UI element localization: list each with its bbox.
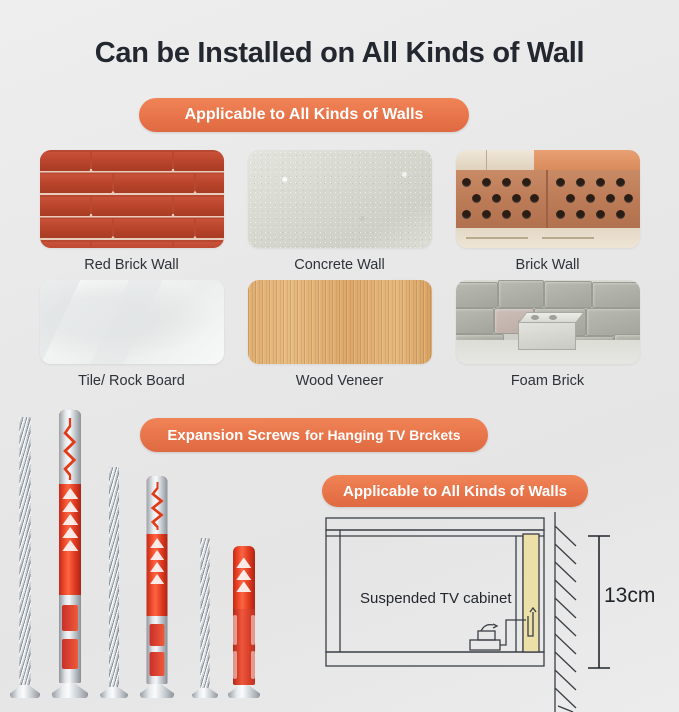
anchor-item-2: [140, 476, 174, 698]
wall-type-label: Wood Veneer: [248, 373, 432, 389]
tile-swatch: [40, 280, 224, 364]
red-brick-swatch: [40, 150, 224, 248]
brick-bottom-course: [456, 228, 640, 248]
wall-type-wood: Wood Veneer: [248, 280, 432, 389]
wall-type-label: Concrete Wall: [248, 257, 432, 273]
wall-type-brick: Brick Wall: [456, 150, 640, 273]
brick-hollow-body: [456, 170, 640, 228]
hatched-wall: [555, 512, 576, 712]
brick-block: [550, 170, 640, 228]
badge-applicable-top: Applicable to All Kinds of Walls: [139, 98, 469, 132]
wall-type-label: Foam Brick: [456, 373, 640, 389]
expansion-screws-illustration: [0, 405, 310, 712]
anchor-item-1: [52, 410, 88, 698]
brick-orange-face: [588, 150, 640, 170]
foam-front-block: [518, 320, 576, 350]
tv-cabinet-diagram: [318, 512, 679, 712]
wall-types-grid: Red Brick Wall Concrete Wall: [0, 150, 679, 396]
wall-type-label: Brick Wall: [456, 257, 640, 273]
infographic-page: Can be Installed on All Kinds of Wall Ap…: [0, 0, 679, 712]
wall-type-label: Red Brick Wall: [40, 257, 224, 273]
wood-veneer-swatch: [248, 280, 432, 364]
badge-expansion-screws-thin: for Hanging TV Brckets: [305, 427, 461, 443]
badge-applicable-diagram: Applicable to All Kinds of Walls: [322, 475, 588, 507]
wall-type-concrete: Concrete Wall: [248, 150, 432, 273]
brick-orange-face: [534, 150, 588, 170]
anchor-item-3: [228, 546, 260, 698]
cabinet-label: Suspended TV cabinet: [360, 590, 512, 607]
wall-types-row-1: Red Brick Wall Concrete Wall: [0, 150, 679, 273]
brick-block: [456, 170, 548, 228]
foam-brick-swatch: [456, 280, 640, 364]
badge-applicable-diagram-label: Applicable to All Kinds of Walls: [343, 483, 567, 500]
wall-type-foam: Foam Brick: [456, 280, 640, 389]
concrete-swatch: [248, 150, 432, 248]
hollow-brick-swatch: [456, 150, 640, 248]
wall-type-red-brick: Red Brick Wall: [40, 150, 224, 273]
wall-type-tile: Tile/ Rock Board: [40, 280, 224, 389]
wall-panel-strip: [523, 534, 539, 652]
screw-item-1: [10, 416, 40, 698]
page-title: Can be Installed on All Kinds of Wall: [0, 37, 679, 70]
wall-types-row-2: Tile/ Rock Board Wood Veneer: [0, 280, 679, 389]
badge-applicable-top-label: Applicable to All Kinds of Walls: [185, 106, 424, 124]
screw-item-2: [100, 466, 128, 698]
dimension-label: 13cm: [604, 584, 655, 608]
screw-item-3: [192, 538, 218, 698]
wall-type-label: Tile/ Rock Board: [40, 373, 224, 389]
